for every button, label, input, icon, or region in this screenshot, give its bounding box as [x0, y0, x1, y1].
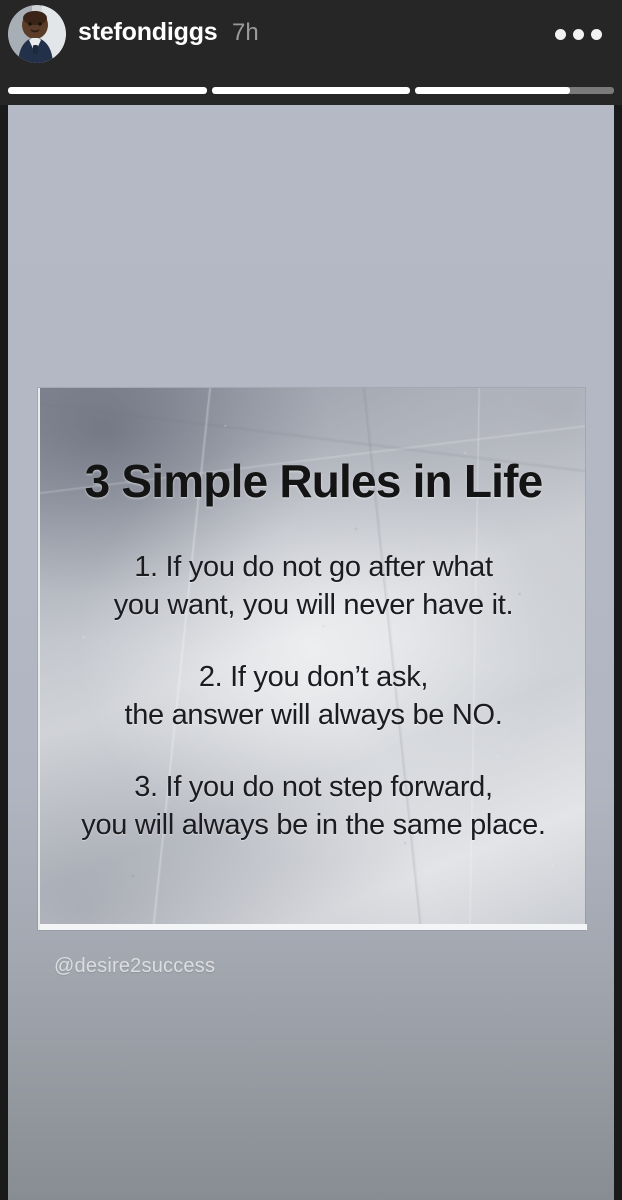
story-content-area[interactable]: 3 Simple Rules in Life 1. If you do not …	[8, 105, 614, 1200]
quote-image-card: 3 Simple Rules in Life 1. If you do not …	[38, 388, 585, 930]
story-progress-fill-3	[415, 87, 570, 94]
avatar[interactable]	[8, 5, 66, 63]
quote-rules-list: 1. If you do not go after what you want,…	[40, 548, 587, 878]
quote-title: 3 Simple Rules in Life	[40, 454, 587, 508]
quote-rule-1: 1. If you do not go after what you want,…	[40, 548, 587, 624]
story-progress-segment-1[interactable]	[8, 87, 207, 94]
quote-rule-2-line-2: the answer will always be NO.	[40, 696, 587, 734]
quote-rule-1-line-1: 1. If you do not go after what	[40, 548, 587, 586]
story-timestamp: 7h	[232, 19, 259, 47]
story-progress-bar	[8, 87, 614, 94]
more-options-button[interactable]	[548, 20, 608, 48]
quote-rule-3-line-2: you will always be in the same place.	[40, 806, 587, 844]
story-progress-segment-2[interactable]	[212, 87, 411, 94]
quote-rule-2-line-1: 2. If you don’t ask,	[40, 658, 587, 696]
story-progress-segment-3[interactable]	[415, 87, 614, 94]
story-progress-fill-2	[212, 87, 411, 94]
more-options-dot-1	[555, 29, 566, 40]
quote-rule-2: 2. If you don’t ask, the answer will alw…	[40, 658, 587, 734]
quote-rule-3-line-1: 3. If you do not step forward,	[40, 768, 587, 806]
story-progress-fill-1	[8, 87, 207, 94]
quote-rule-1-line-2: you want, you will never have it.	[40, 586, 587, 624]
watermark-handle: @desire2success	[54, 955, 215, 978]
profile-photo-avatar-icon	[8, 5, 66, 63]
more-options-dot-2	[573, 29, 584, 40]
quote-card-bottom-strip	[40, 924, 587, 930]
story-username[interactable]: stefondiggs	[78, 18, 217, 47]
more-options-dot-3	[591, 29, 602, 40]
quote-rule-3: 3. If you do not step forward, you will …	[40, 768, 587, 844]
